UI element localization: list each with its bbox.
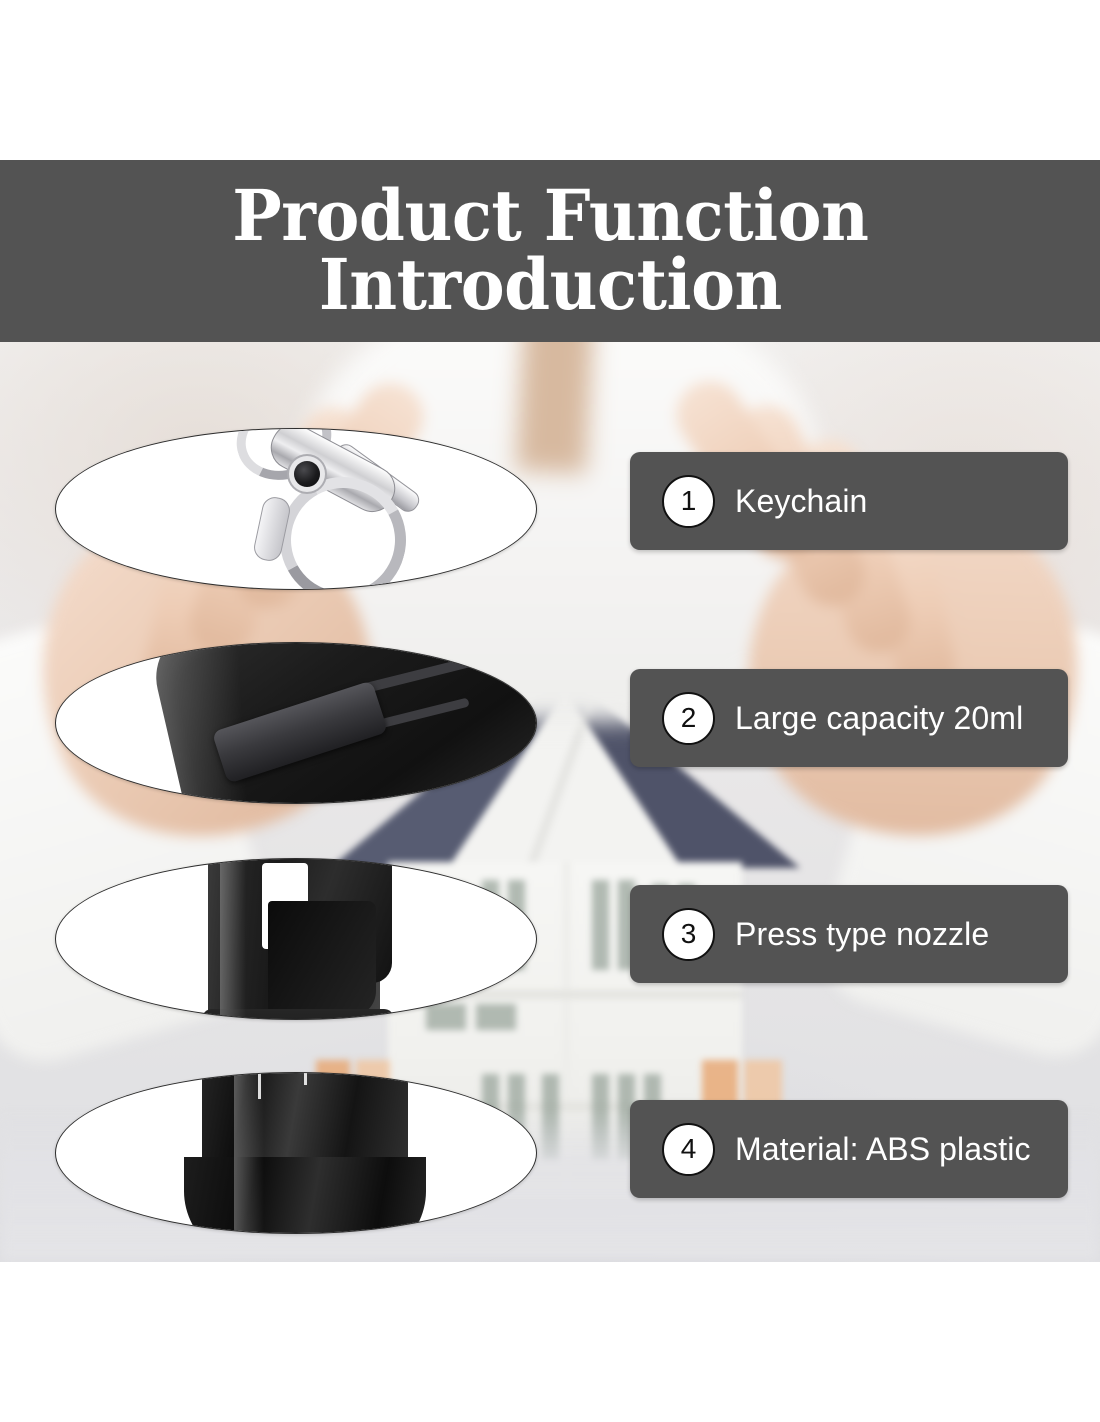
feature-bar-2[interactable]: 2 Large capacity 20ml bbox=[630, 669, 1068, 767]
nozzle-cap-highlight bbox=[220, 858, 246, 1020]
bottle-base-slit bbox=[304, 1072, 307, 1085]
nozzle-cap-shadow bbox=[268, 901, 376, 1017]
feature-label-3: Press type nozzle bbox=[735, 916, 989, 953]
closeup-oval-bottle-base bbox=[55, 1072, 537, 1234]
feature-bar-3[interactable]: 3 Press type nozzle bbox=[630, 885, 1068, 983]
closeup-oval-nozzle-content bbox=[56, 859, 536, 1019]
feature-label-2: Large capacity 20ml bbox=[735, 700, 1023, 737]
closeup-oval-keychain bbox=[55, 428, 537, 590]
feature-number-badge-3: 3 bbox=[662, 908, 715, 961]
feature-bar-4[interactable]: 4 Material: ABS plastic bbox=[630, 1100, 1068, 1198]
closeup-oval-keychain-content bbox=[56, 429, 536, 589]
bottle-base-flare bbox=[184, 1157, 426, 1234]
product-photo-stage: 1 Keychain 2 Large capacity 20ml 3 Press… bbox=[0, 342, 1100, 1262]
page-title: Product Function Introduction bbox=[213, 182, 887, 319]
header-band: Product Function Introduction bbox=[0, 160, 1100, 342]
feature-label-1: Keychain bbox=[735, 483, 867, 520]
feature-number-badge-2: 2 bbox=[662, 692, 715, 745]
bottle-base-highlight bbox=[234, 1072, 264, 1234]
feature-number-badge-1: 1 bbox=[662, 475, 715, 528]
feature-number-badge-4: 4 bbox=[662, 1123, 715, 1176]
clasp-rivet bbox=[294, 461, 320, 487]
closeup-oval-bottle-base-content bbox=[56, 1073, 536, 1233]
keychain-clasp bbox=[216, 428, 446, 590]
infographic-page: Product Function Introduction bbox=[0, 0, 1100, 1422]
closeup-oval-bottle-body bbox=[55, 642, 537, 804]
feature-label-4: Material: ABS plastic bbox=[735, 1131, 1031, 1168]
closeup-oval-bottle-body-content bbox=[56, 643, 536, 803]
closeup-oval-nozzle bbox=[55, 858, 537, 1020]
feature-bar-1[interactable]: 1 Keychain bbox=[630, 452, 1068, 550]
